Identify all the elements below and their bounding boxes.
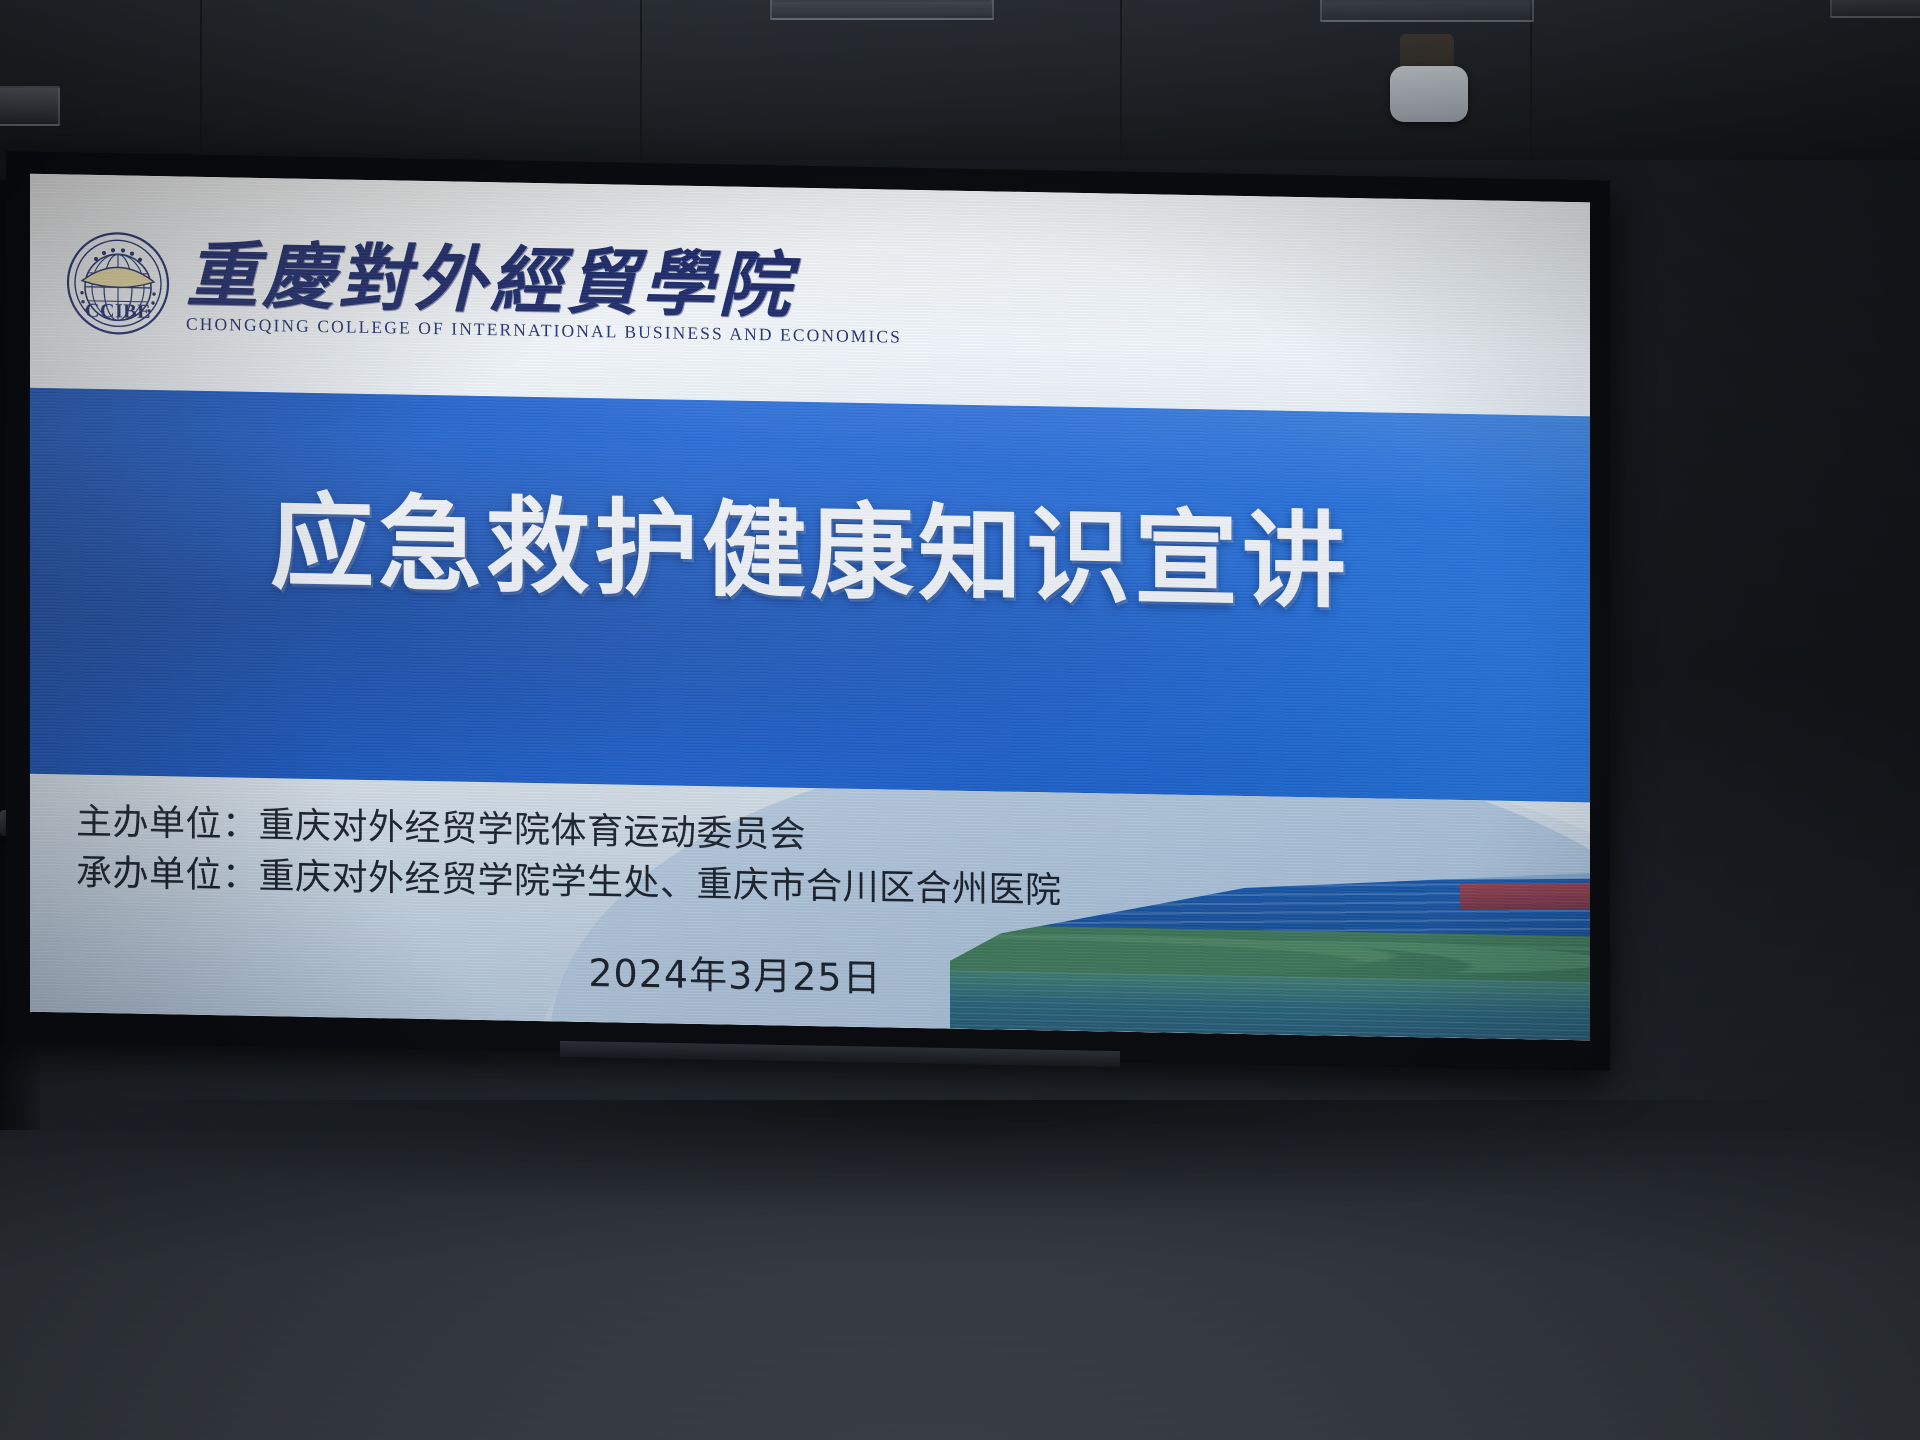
room-photo: CCIBE 重慶對外經貿學院 CHONGQING COLLEGE OF INTE… [0, 0, 1920, 1440]
ccibe-emblem-icon: CCIBE [66, 230, 170, 336]
slide-title: 应急救护健康知识宣讲 [30, 484, 1590, 622]
ceiling-vent [0, 86, 60, 126]
ceiling-vent [1320, 0, 1534, 22]
presentation-slide: CCIBE 重慶對外經貿學院 CHONGQING COLLEGE OF INTE… [30, 174, 1590, 1041]
display-screen[interactable]: CCIBE 重慶對外經貿學院 CHONGQING COLLEGE OF INTE… [6, 151, 1610, 1070]
smoke-detector-icon [1390, 66, 1468, 122]
institution-logo: CCIBE 重慶對外經貿學院 CHONGQING COLLEGE OF INTE… [66, 230, 902, 349]
title-band: 应急救护健康知识宣讲 [30, 388, 1590, 811]
slide-footer: 主办单位：重庆对外经贸学院体育运动委员会 承办单位：重庆对外经贸学院学生处、重庆… [30, 774, 1590, 1041]
institution-name-block: 重慶對外經貿學院 CHONGQING COLLEGE OF INTERNATIO… [186, 239, 902, 349]
display-panel: CCIBE 重慶對外經貿學院 CHONGQING COLLEGE OF INTE… [30, 174, 1590, 1041]
ceiling-vent [770, 0, 994, 20]
floor-shadow [0, 1100, 1920, 1220]
svg-text:CCIBE: CCIBE [85, 300, 151, 323]
organizer-list: 主办单位：重庆对外经贸学院体育运动委员会 承办单位：重庆对外经贸学院学生处、重庆… [76, 797, 1062, 917]
institution-name-cn: 重慶對外經貿學院 [186, 239, 902, 321]
ceiling-vent [1830, 0, 1920, 18]
